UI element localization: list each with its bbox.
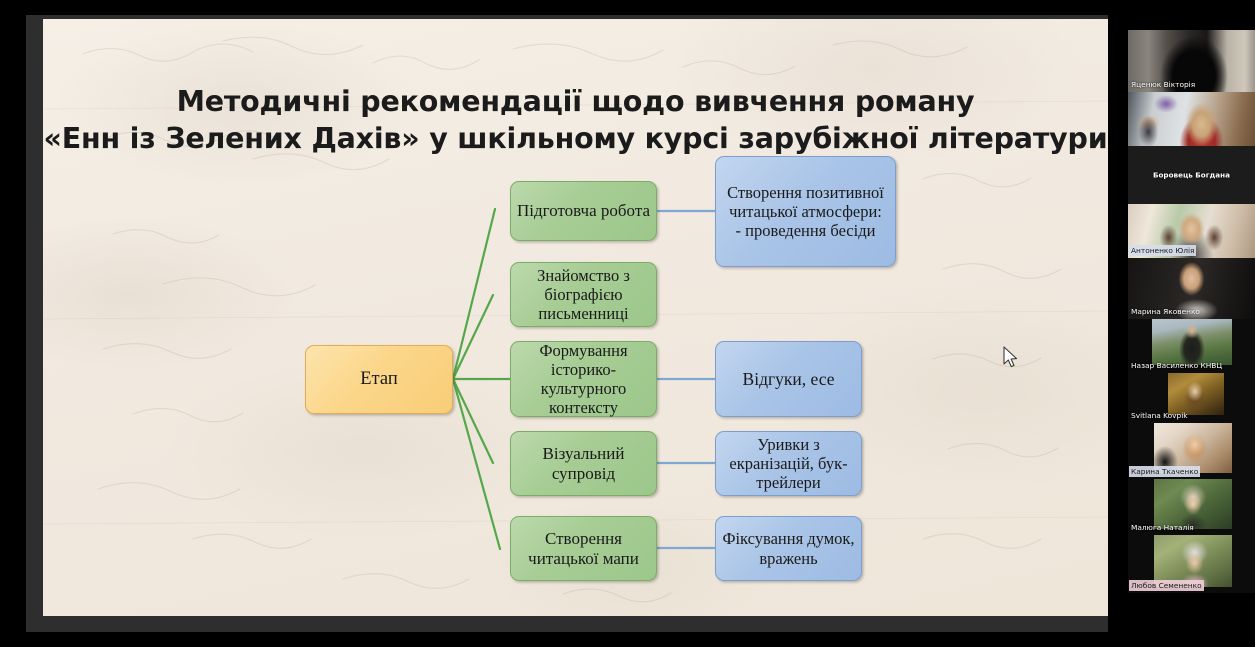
participant-tile[interactable]: Боровець Богдана xyxy=(1128,146,1255,204)
presentation-slide: Методичні рекомендації щодо вивчення ром… xyxy=(43,19,1108,616)
page-title: Методичні рекомендації щодо вивчення ром… xyxy=(43,83,1108,158)
node-green-author-biography-label: Знайомство з біографією письменниці xyxy=(511,266,656,323)
node-blue-positive-atmosphere[interactable]: Створення позитивної читацької атмосфери… xyxy=(715,156,896,267)
node-root-etap[interactable]: Етап xyxy=(305,345,453,414)
participant-name: Любов Семененко xyxy=(1129,580,1204,591)
participant-tile[interactable]: Svitlana Kovpik xyxy=(1128,373,1255,423)
node-blue-reviews-essays[interactable]: Відгуки, есе xyxy=(715,341,862,417)
participant-name: Марина Яковенко xyxy=(1129,306,1202,317)
participant-tile[interactable]: Яценюк Вікторія xyxy=(1128,30,1255,92)
node-green-reader-map[interactable]: Створення читацької мапи xyxy=(510,516,657,581)
participant-name: Антоненко Юлія xyxy=(1129,245,1196,256)
participant-name: Карина Ткаченко xyxy=(1129,466,1200,477)
participant-tile[interactable] xyxy=(1128,92,1255,146)
node-blue-reviews-essays-label: Відгуки, есе xyxy=(737,369,841,389)
node-root-etap-label: Етап xyxy=(354,369,403,390)
participant-tile[interactable]: Антоненко Юлія xyxy=(1128,204,1255,258)
node-green-preparatory-work[interactable]: Підготовча робота xyxy=(510,181,657,241)
participant-tile[interactable]: Назар Василенко КНВЦ xyxy=(1128,319,1255,373)
slide-frame: Методичні рекомендації щодо вивчення ром… xyxy=(26,15,1108,632)
participant-tile[interactable]: Карина Ткаченко xyxy=(1128,423,1255,479)
node-green-reader-map-label: Створення читацької мапи xyxy=(511,529,656,568)
node-blue-record-thoughts-label: Фіксування думок, вражень xyxy=(716,529,861,567)
node-blue-film-excerpts-label: Уривки з екранізацій, бук-трейлери xyxy=(716,435,861,492)
participant-tile[interactable]: Марина Яковенко xyxy=(1128,258,1255,319)
participant-name: Боровець Богдана xyxy=(1128,170,1255,181)
participant-name: Назар Василенко КНВЦ xyxy=(1129,360,1224,371)
screen-share-region: Методичні рекомендації щодо вивчення ром… xyxy=(0,0,1128,647)
node-green-author-biography[interactable]: Знайомство з біографією письменниці xyxy=(510,262,657,327)
node-green-visual-support[interactable]: Візуальний супровід xyxy=(510,431,657,496)
participant-video xyxy=(1168,373,1224,415)
participant-video xyxy=(1152,319,1232,365)
node-green-historical-context-label: Формування історико-культурного контекст… xyxy=(511,341,656,418)
participant-video xyxy=(1128,92,1255,146)
node-blue-film-excerpts[interactable]: Уривки з екранізацій, бук-трейлери xyxy=(715,431,862,496)
title-line-1: Методичні рекомендації щодо вивчення ром… xyxy=(43,83,1108,120)
participant-name: Svitlana Kovpik xyxy=(1129,410,1190,421)
participant-tile[interactable]: Малюга Наталія xyxy=(1128,479,1255,535)
title-line-2: «Енн із Зелених Дахів» у шкільному курсі… xyxy=(43,120,1108,157)
node-green-historical-context[interactable]: Формування історико-культурного контекст… xyxy=(510,341,657,417)
participant-name: Яценюк Вікторія xyxy=(1129,79,1197,90)
node-green-preparatory-work-label: Підготовча робота xyxy=(511,201,656,221)
participant-name: Малюга Наталія xyxy=(1129,522,1196,533)
node-green-visual-support-label: Візуальний супровід xyxy=(511,444,656,483)
participant-filmstrip[interactable]: Яценюк Вікторія Боровець Богдана Антонен… xyxy=(1128,0,1255,647)
participant-tile[interactable]: Любов Семененко xyxy=(1128,535,1255,593)
node-blue-record-thoughts[interactable]: Фіксування думок, вражень xyxy=(715,516,862,581)
node-blue-positive-atmosphere-label: Створення позитивної читацької атмосфери… xyxy=(716,183,895,240)
